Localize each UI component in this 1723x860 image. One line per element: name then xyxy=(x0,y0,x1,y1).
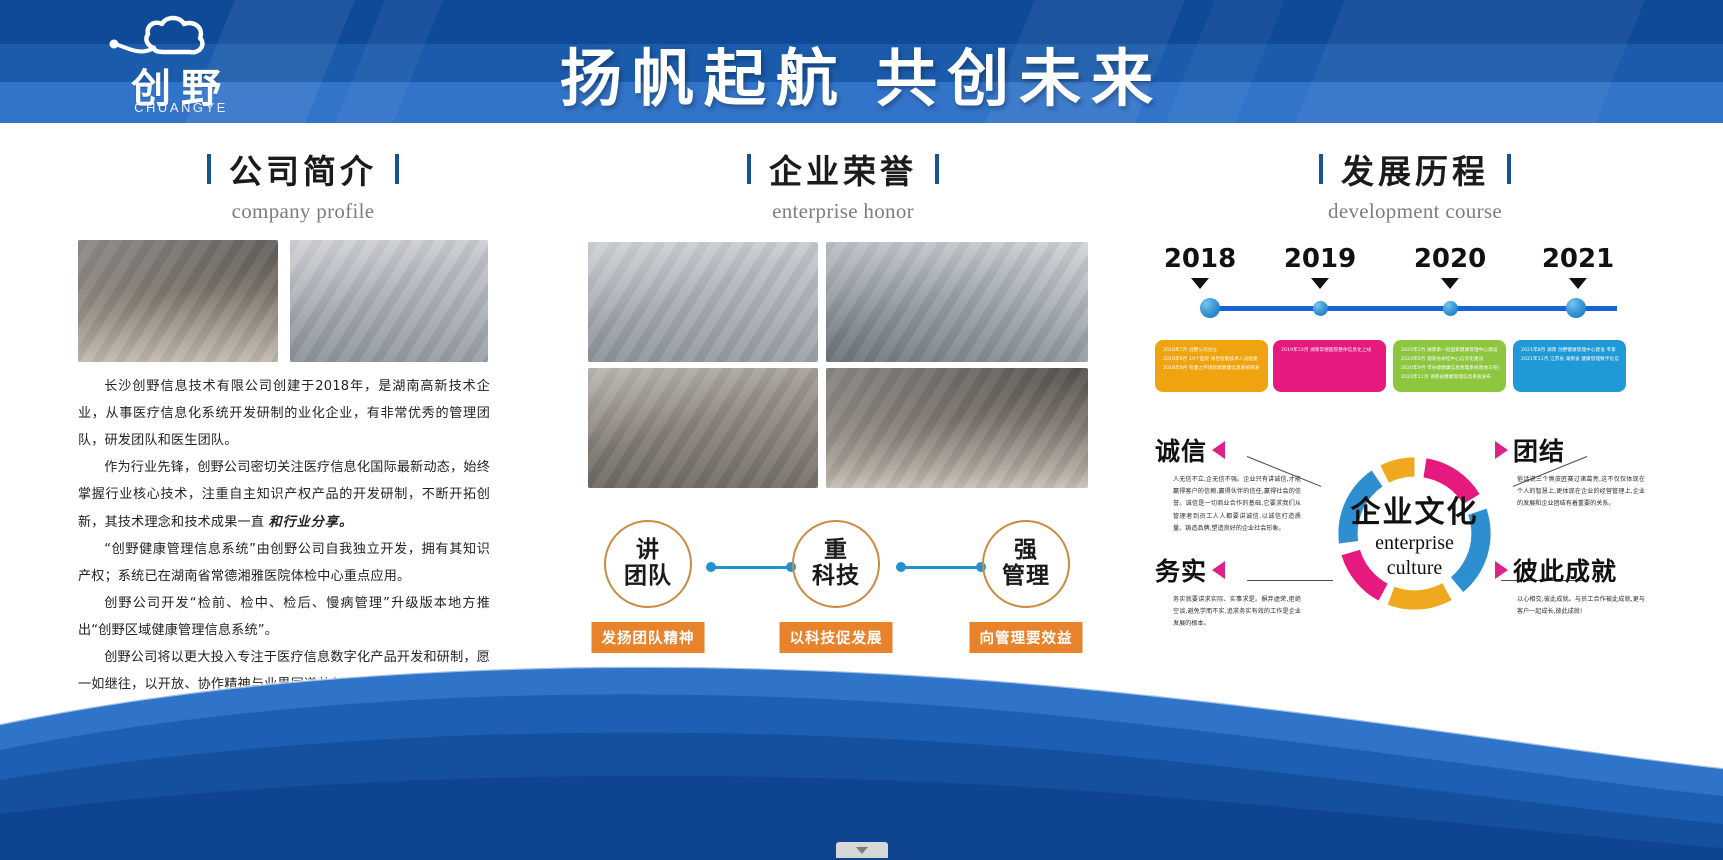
timeline-card-2020: 2020年2月 湖南第一批国家健康管理中心建设 2020年6月 湖南省体检中心信… xyxy=(1393,340,1506,392)
culture-quadrant-desc: 人无信不立,企无信不强。企业只有讲诚信,才能赢得客户的信赖,赢得伙伴的信任,赢得… xyxy=(1173,474,1301,535)
wave-decoration-icon xyxy=(0,628,1723,860)
culture-center-en-line2: culture xyxy=(1387,556,1443,581)
profile-photo-row xyxy=(78,240,528,362)
culture-quadrant-integrity: 诚信 人无信不立,企无信不强。企业只有讲诚信,才能赢得客户的信赖,赢得伙伴的信任… xyxy=(1155,432,1335,535)
culture-quadrant-desc: 务实就要讲求实际、实事求是。摒弃虚荣,拒绝空谈,避免学而不实,追求务实有效的工作… xyxy=(1173,594,1301,631)
timeline-card-line: 2021年11月 江苏省 湖南省 健康管理数字化信息建设推系统 xyxy=(1521,356,1619,365)
caret-down-icon xyxy=(1191,278,1209,289)
culture-quadrant-label: 诚信 xyxy=(1155,432,1207,468)
culture-quadrant-desc: 俗话说三个臭皮匠赛过诸葛亮,这不仅仅体现在个人的智慧上,更体现在企业的经营管理上… xyxy=(1517,474,1645,511)
arrow-right-icon xyxy=(1495,561,1508,579)
value-connector xyxy=(706,562,796,572)
card-pointer xyxy=(1320,340,1340,341)
culture-center-title: 企业文化 xyxy=(1351,487,1479,531)
timeline-year-2019: 2019 xyxy=(1265,244,1375,274)
column-company-profile: 公司简介 company profile 长沙创野信息技术有限公司创建于2018… xyxy=(78,123,528,699)
culture-diagram: 企业文化 enterprise culture 诚信 人无信不立,企无信不强。企… xyxy=(1155,428,1675,658)
office-reception-photo xyxy=(290,240,488,362)
section-heading-course: 发展历程 development course xyxy=(1155,145,1675,224)
page-title: 扬帆起航 共创未来 xyxy=(0,28,1723,118)
culture-quadrant-title: 诚信 xyxy=(1155,432,1335,468)
culture-quadrant-label: 团结 xyxy=(1513,432,1565,468)
value-circle-line1: 重 xyxy=(824,538,848,564)
section-title-cn-wrap: 发展历程 xyxy=(1319,145,1511,193)
value-circle-line1: 讲 xyxy=(636,538,660,564)
caret-down-icon xyxy=(1569,278,1587,289)
heading-bar-right xyxy=(1507,154,1511,184)
section-title-cn-wrap: 企业荣誉 xyxy=(747,145,939,193)
arrow-left-icon xyxy=(1212,561,1225,579)
caret-down-icon xyxy=(1441,278,1459,289)
heading-bar-left xyxy=(747,154,751,184)
culture-quadrant-label: 彼此成就 xyxy=(1513,552,1617,588)
page-header: 创野 CHUANGYE 扬帆起航 共创未来 xyxy=(0,0,1723,123)
timeline-year-label: 2020 xyxy=(1414,244,1486,274)
timeline-year-label: 2019 xyxy=(1284,244,1356,274)
heading-bar-right xyxy=(935,154,939,184)
section-subtitle-honor: enterprise honor xyxy=(588,199,1098,224)
value-circle-line2: 科技 xyxy=(812,564,860,590)
meeting-room-photo xyxy=(826,242,1088,362)
profile-paragraph: 作为行业先锋，创野公司密切关注医疗信息化国际最新动态，始终掌握行业核心技术，注重… xyxy=(78,455,490,537)
culture-quadrant-desc: 以心相交,彼此成就。与员工合作被此成就,更与客户一起成长,彼此成就! xyxy=(1517,594,1645,618)
section-subtitle-course: development course xyxy=(1155,199,1675,224)
timeline-card-line: 2020年9月 市县级健康信息管理系统落地与完成 xyxy=(1401,365,1499,374)
timeline-year-2021: 2021 xyxy=(1523,244,1633,274)
value-circle: 讲 团队 xyxy=(604,520,692,608)
honor-photo-grid xyxy=(588,242,1098,490)
timeline-year-label: 2018 xyxy=(1164,244,1236,274)
caret-down-icon xyxy=(1311,278,1329,289)
arrow-left-icon xyxy=(1212,441,1225,459)
timeline-card-line: 2020年11月 湖南省健康管理信息系统发布 xyxy=(1401,374,1499,383)
section-heading-profile: 公司简介 company profile xyxy=(78,145,528,224)
card-pointer xyxy=(1440,340,1460,341)
arrow-right-icon xyxy=(1495,441,1508,459)
profile-paragraph: 长沙创野信息技术有限公司创建于2018年，是湖南高新技术企业，从事医疗信息化系统… xyxy=(78,374,490,455)
culture-quadrant-title: 务实 xyxy=(1155,552,1335,588)
card-pointer xyxy=(1560,340,1580,341)
heading-bar-left xyxy=(1319,154,1323,184)
culture-center-en-line1: enterprise xyxy=(1375,531,1454,556)
open-workspace-photo xyxy=(588,368,818,488)
column-development-course: 发展历程 development course 2018 2018年7月 创野公… xyxy=(1155,123,1675,658)
heading-bar-right xyxy=(395,154,399,184)
culture-quadrant-pragmatism: 务实 务实就要讲求实际、实事求是。摒弃虚荣,拒绝空谈,避免学而不实,追求务实有效… xyxy=(1155,552,1335,631)
culture-wheel-center: 企业文化 enterprise culture xyxy=(1327,446,1502,621)
scroll-hint[interactable] xyxy=(836,842,888,858)
timeline-card-line: 2020年6月 湖南省体检中心信息化建设 xyxy=(1401,356,1499,365)
timeline-card-line: 2021年8月 湖南 创野健康管理中心建设 专家 xyxy=(1521,347,1619,356)
timeline-dot xyxy=(1566,298,1586,318)
timeline: 2018 2018年7月 创野公司创立 2018年8月 10个医院 体检智能技术… xyxy=(1155,244,1675,404)
value-circle: 强 管理 xyxy=(982,520,1070,608)
value-circle: 重 科技 xyxy=(792,520,880,608)
value-circle-line2: 管理 xyxy=(1002,564,1050,590)
team-group-photo xyxy=(78,240,278,362)
poster-canvas: 创野 CHUANGYE 扬帆起航 共创未来 公司简介 company profi… xyxy=(0,0,1723,860)
section-title-profile: 公司简介 xyxy=(229,145,377,193)
card-pointer xyxy=(1202,340,1222,341)
timeline-card-line: 2019年10月 湖南常德医院整体信息化上线 xyxy=(1281,347,1379,356)
connector-line xyxy=(711,566,791,569)
connector-line xyxy=(901,566,981,569)
timeline-year-2018: 2018 xyxy=(1145,244,1255,274)
section-title-cn-wrap: 公司简介 xyxy=(207,145,399,193)
culture-quadrant-title: 团结 xyxy=(1495,432,1675,468)
culture-quadrant-label: 务实 xyxy=(1155,552,1207,588)
culture-quadrant-mutual-achievement: 彼此成就 以心相交,彼此成就。与员工合作被此成就,更与客户一起成长,彼此成就! xyxy=(1495,552,1675,618)
timeline-card-line: 2018年9月 有量之环境智能健康信息系统研发 xyxy=(1163,365,1261,374)
timeline-card-line: 2018年7月 创野公司创立 xyxy=(1163,347,1261,356)
timeline-year-label: 2021 xyxy=(1542,244,1614,274)
culture-quadrant-title: 彼此成就 xyxy=(1495,552,1675,588)
value-circle-line2: 团队 xyxy=(624,564,672,590)
timeline-line xyxy=(1207,306,1617,311)
team-lobby-photo xyxy=(826,368,1088,488)
culture-wheel: 企业文化 enterprise culture xyxy=(1327,446,1502,621)
section-title-honor: 企业荣誉 xyxy=(769,145,917,193)
value-connector xyxy=(896,562,986,572)
timeline-dot xyxy=(1313,301,1328,316)
timeline-dot xyxy=(1443,301,1458,316)
profile-paragraph: “创野健康管理信息系统”由创野公司自我独立开发，拥有其知识产权；系统已在湖南省常… xyxy=(78,537,490,591)
timeline-dot xyxy=(1200,298,1220,318)
chevron-down-icon xyxy=(856,847,868,854)
footer-wave xyxy=(0,628,1723,860)
timeline-card-line: 2018年8月 10个医院 体检智能技术人员组建 xyxy=(1163,356,1261,365)
timeline-card-line: 2020年2月 湖南第一批国家健康管理中心建设 xyxy=(1401,347,1499,356)
heading-bar-left xyxy=(207,154,211,184)
office-reception-photo xyxy=(588,242,818,362)
section-subtitle-profile: company profile xyxy=(78,199,528,224)
timeline-card-2018: 2018年7月 创野公司创立 2018年8月 10个医院 体检智能技术人员组建 … xyxy=(1155,340,1268,392)
column-enterprise-honor: 企业荣誉 enterprise honor xyxy=(588,123,1098,660)
section-heading-honor: 企业荣誉 enterprise honor xyxy=(588,145,1098,224)
value-circle-line1: 强 xyxy=(1014,538,1038,564)
culture-quadrant-unity: 团结 俗话说三个臭皮匠赛过诸葛亮,这不仅仅体现在个人的智慧上,更体现在企业的经营… xyxy=(1495,432,1675,511)
timeline-year-2020: 2020 xyxy=(1395,244,1505,274)
timeline-card-2019: 2019年10月 湖南常德医院整体信息化上线 xyxy=(1273,340,1386,392)
section-title-course: 发展历程 xyxy=(1341,145,1489,193)
timeline-card-2021: 2021年8月 湖南 创野健康管理中心建设 专家 2021年11月 江苏省 湖南… xyxy=(1513,340,1626,392)
handwritten-phrase: 和行业分享。 xyxy=(269,514,354,529)
